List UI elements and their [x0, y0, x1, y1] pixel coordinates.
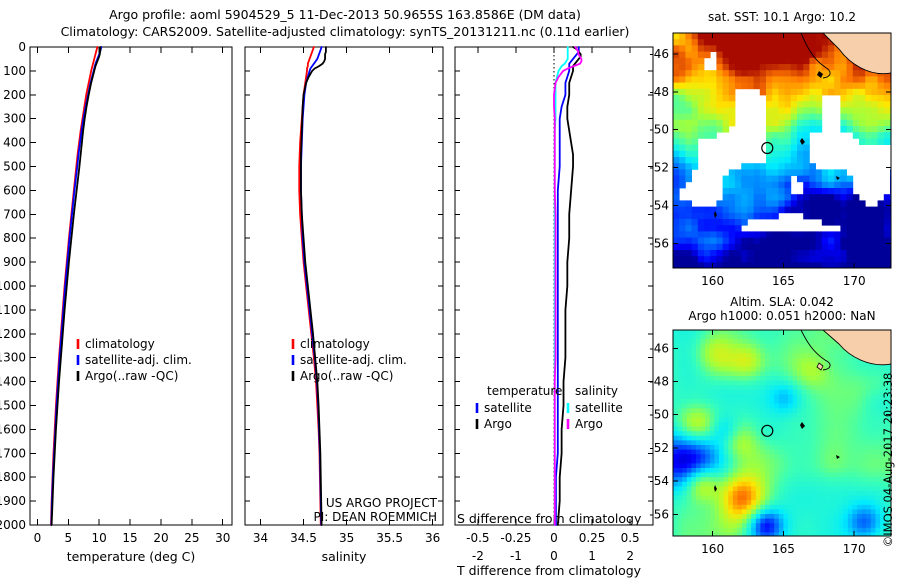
sla-cell: [719, 427, 724, 432]
sla-cell: [719, 408, 724, 413]
sla-cell: [705, 440, 710, 445]
sla-cell: [871, 514, 876, 519]
sla-cell: [719, 436, 724, 441]
sla-cell: [802, 482, 807, 487]
sla-cell: [843, 505, 848, 510]
sst-cell: [816, 101, 823, 108]
sla-cell: [714, 532, 719, 537]
sst-cell: [685, 145, 692, 152]
sla-cell: [848, 459, 853, 464]
sst-cell: [840, 126, 847, 133]
sst-cell: [871, 238, 878, 245]
sst-cell: [834, 52, 841, 59]
sla-cell: [779, 358, 784, 363]
sla-cell: [756, 431, 761, 436]
sla-cell: [765, 519, 770, 524]
sla-cell: [783, 486, 788, 491]
sst-cell: [847, 219, 854, 226]
sst-cell: [778, 238, 785, 245]
sla-cell: [737, 358, 742, 363]
sla-cell: [783, 404, 788, 409]
sla-cell: [751, 519, 756, 524]
sla-cell: [774, 445, 779, 450]
sst-cell: [679, 213, 686, 220]
sst-cell: [735, 33, 742, 40]
sla-cell: [871, 532, 876, 537]
sst-cell: [741, 76, 748, 83]
sst-cell: [679, 200, 686, 207]
sla-cell: [719, 422, 724, 427]
sla-cell: [811, 381, 816, 386]
sla-cell: [829, 505, 834, 510]
sla-cell: [691, 417, 696, 422]
sla-cell: [843, 367, 848, 372]
sla-cell: [820, 344, 825, 349]
sst-cell: [716, 64, 723, 71]
sla-cell: [710, 468, 715, 473]
sla-cell: [705, 358, 710, 363]
salinity-curve-2: [301, 47, 326, 525]
sla-cell: [797, 473, 802, 478]
sst-cell: [729, 256, 736, 263]
sla-cell: [747, 500, 752, 505]
sla-cell: [714, 463, 719, 468]
sst-cell: [797, 58, 804, 65]
sla-cell: [687, 509, 692, 514]
sla-cell: [678, 491, 683, 496]
sst-cell: [816, 120, 823, 127]
sla-cell: [728, 367, 733, 372]
sst-cell: [723, 207, 730, 214]
sla-cell: [816, 335, 821, 340]
sla-cell: [793, 519, 798, 524]
sst-cell: [840, 101, 847, 108]
sla-cell: [770, 408, 775, 413]
sla-cell: [834, 486, 839, 491]
sla-cell: [678, 500, 683, 505]
sla-cell: [737, 399, 742, 404]
sst-cell: [816, 169, 823, 176]
sla-cell: [857, 477, 862, 482]
sst-cell: [679, 238, 686, 245]
sst-cell: [785, 207, 792, 214]
sla-cell: [742, 358, 747, 363]
sst-cell: [685, 114, 692, 121]
sla-cell: [673, 500, 678, 505]
sst-cell: [803, 33, 810, 40]
sla-cell: [811, 348, 816, 353]
sst-cell: [673, 114, 680, 121]
sla-cell: [696, 436, 701, 441]
sst-cell: [685, 256, 692, 263]
sst-cell: [871, 225, 878, 232]
sla-cell: [862, 505, 867, 510]
sla-cell: [862, 404, 867, 409]
sdiff-tick-label: -0.25: [500, 531, 531, 545]
sla-cell: [705, 500, 710, 505]
sst-cell: [847, 95, 854, 102]
sla-cell: [862, 463, 867, 468]
sst-cell: [853, 70, 860, 77]
sla-cell: [691, 509, 696, 514]
sla-cell: [737, 519, 742, 524]
sla-cell: [852, 463, 857, 468]
sla-cell: [783, 413, 788, 418]
sst-cell: [685, 250, 692, 257]
sla-cell: [733, 468, 738, 473]
sla-cell: [710, 509, 715, 514]
sla-cell: [747, 505, 752, 510]
sla-cell: [774, 514, 779, 519]
sst-cell: [822, 219, 829, 226]
sst-cell: [878, 120, 885, 127]
sla-cell: [756, 353, 761, 358]
sla-cell: [719, 445, 724, 450]
sla-cell: [705, 376, 710, 381]
sla-cell: [774, 394, 779, 399]
sla-cell: [733, 463, 738, 468]
sla-cell: [687, 468, 692, 473]
sla-cell: [811, 413, 816, 418]
sla-cell: [811, 431, 816, 436]
sst-cell: [785, 52, 792, 59]
sla-cell: [742, 459, 747, 464]
sla-cell: [852, 509, 857, 514]
sst-map-title: sat. SST: 10.1 Argo: 10.2: [708, 10, 856, 24]
sst-cell: [797, 250, 804, 257]
sla-cell: [705, 473, 710, 478]
sla-cell: [737, 353, 742, 358]
sla-cell: [793, 330, 798, 335]
sla-cell: [678, 422, 683, 427]
sla-cell: [829, 413, 834, 418]
sla-cell: [733, 436, 738, 441]
sla-cell: [848, 358, 853, 363]
sst-cell: [847, 176, 854, 183]
sla-cell: [770, 505, 775, 510]
sla-cell: [714, 523, 719, 528]
sla-cell: [687, 358, 692, 363]
copyright-text: ©IMOS 04-Aug-2017 20:23:38: [881, 373, 895, 548]
sst-map-lat-tick: -54: [649, 198, 669, 212]
sla-cell: [673, 528, 678, 533]
sst-cell: [692, 231, 699, 238]
sst-cell: [704, 52, 711, 59]
sla-cell: [797, 390, 802, 395]
sla-cell: [806, 367, 811, 372]
sla-cell: [765, 463, 770, 468]
sla-cell: [696, 353, 701, 358]
sla-cell: [843, 358, 848, 363]
sla-cell: [852, 440, 857, 445]
sla-cell: [875, 496, 880, 501]
sla-cell: [875, 417, 880, 422]
sla-cell: [756, 413, 761, 418]
sla-cell: [728, 477, 733, 482]
sla-cell: [673, 523, 678, 528]
sla-cell: [788, 496, 793, 501]
sst-cell: [778, 145, 785, 152]
sst-cell: [716, 89, 723, 96]
sst-cell: [840, 114, 847, 121]
sla-cell: [751, 390, 756, 395]
sla-cell: [871, 399, 876, 404]
sla-cell: [760, 404, 765, 409]
sla-cell: [724, 362, 729, 367]
sst-cell: [809, 188, 816, 195]
sla-cell: [687, 463, 692, 468]
sst-cell: [685, 120, 692, 127]
sla-cell: [701, 399, 706, 404]
sla-cell: [760, 486, 765, 491]
sst-cell: [822, 70, 829, 77]
sst-cell: [679, 169, 686, 176]
sla-cell: [843, 381, 848, 386]
depth-tick-label: 2000: [0, 518, 26, 532]
sst-cell: [685, 225, 692, 232]
sla-cell: [843, 408, 848, 413]
sst-cell: [785, 107, 792, 114]
sla-cell: [871, 519, 876, 524]
sst-cell: [685, 89, 692, 96]
sla-cell: [834, 482, 839, 487]
sst-cell: [828, 182, 835, 189]
sla-cell: [829, 371, 834, 376]
sst-cell: [871, 213, 878, 220]
sla-cell: [774, 468, 779, 473]
sst-cell: [822, 231, 829, 238]
sst-cell: [847, 83, 854, 90]
sla-cell: [797, 482, 802, 487]
sla-cell: [852, 528, 857, 533]
sst-cell: [791, 207, 798, 214]
sla-cell: [705, 477, 710, 482]
sla-cell: [848, 417, 853, 422]
sla-cell: [673, 496, 678, 501]
sst-cell: [766, 132, 773, 139]
sla-cell: [724, 523, 729, 528]
sst-cell: [716, 101, 723, 108]
sst-cell: [822, 188, 829, 195]
sla-cell: [797, 450, 802, 455]
sla-cell: [710, 335, 715, 340]
sla-cell: [724, 482, 729, 487]
sla-cell: [866, 523, 871, 528]
sla-cell: [829, 431, 834, 436]
sla-cell: [852, 445, 857, 450]
sla-cell: [728, 436, 733, 441]
sla-cell: [829, 408, 834, 413]
sla-cell: [793, 436, 798, 441]
sst-cell: [741, 45, 748, 52]
sst-cell: [778, 120, 785, 127]
sla-cell: [783, 450, 788, 455]
sst-cell: [791, 39, 798, 46]
sla-cell: [719, 459, 724, 464]
sst-map-lat-tick: -52: [649, 161, 669, 175]
sst-cell: [822, 250, 829, 257]
sla-cell: [875, 371, 880, 376]
sla-cell: [871, 463, 876, 468]
sla-cell: [765, 468, 770, 473]
temperature-tick-label: 20: [153, 531, 168, 545]
sst-cell: [816, 39, 823, 46]
sla-cell: [696, 371, 701, 376]
salinity-curve-1: [301, 47, 322, 525]
sst-cell: [878, 107, 885, 114]
depth-tick-label: 400: [3, 136, 26, 150]
sla-cell: [724, 353, 729, 358]
sla-cell: [737, 445, 742, 450]
sst-cell: [729, 238, 736, 245]
sla-cell: [811, 459, 816, 464]
sla-cell: [875, 459, 880, 464]
sst-cell: [785, 231, 792, 238]
sla-cell: [834, 519, 839, 524]
sla-cell: [829, 344, 834, 349]
sla-cell: [820, 390, 825, 395]
sla-cell: [696, 381, 701, 386]
sla-map-title-line1: Altim. SLA: 0.042: [730, 295, 834, 309]
sla-cell: [783, 335, 788, 340]
sla-cell: [829, 348, 834, 353]
sst-cell: [692, 219, 699, 226]
sst-cell: [741, 213, 748, 220]
temperature-axis-label: temperature (deg C): [67, 549, 196, 564]
sla-cell: [682, 367, 687, 372]
sla-cell: [747, 496, 752, 501]
sla-cell: [875, 473, 880, 478]
sst-cell: [766, 207, 773, 214]
sst-cell: [884, 114, 891, 121]
sla-cell: [737, 509, 742, 514]
sla-cell: [834, 422, 839, 427]
sla-cell: [857, 431, 862, 436]
sla-cell: [774, 381, 779, 386]
sst-cell: [816, 64, 823, 71]
sla-cell: [875, 376, 880, 381]
sla-cell: [783, 358, 788, 363]
sst-cell: [741, 176, 748, 183]
sla-cell: [705, 445, 710, 450]
sla-cell: [705, 367, 710, 372]
sla-cell: [834, 450, 839, 455]
sla-cell: [719, 486, 724, 491]
sla-cell: [806, 505, 811, 510]
sst-cell: [741, 169, 748, 176]
sla-cell: [751, 486, 756, 491]
sst-cell: [692, 207, 699, 214]
sla-cell: [802, 459, 807, 464]
sla-cell: [747, 532, 752, 537]
sla-cell: [829, 528, 834, 533]
sst-cell: [741, 39, 748, 46]
sla-cell: [705, 353, 710, 358]
sla-cell: [788, 353, 793, 358]
sla-cell: [737, 505, 742, 510]
sla-cell: [737, 450, 742, 455]
sla-cell: [848, 514, 853, 519]
sla-cell: [848, 468, 853, 473]
sst-cell: [747, 39, 754, 46]
sst-cell: [878, 219, 885, 226]
sst-cell: [673, 39, 680, 46]
sla-cell: [788, 367, 793, 372]
sla-cell: [678, 362, 683, 367]
sst-cell: [710, 70, 717, 77]
sst-cell: [847, 194, 854, 201]
sla-cell: [687, 427, 692, 432]
sst-cell: [871, 207, 878, 214]
sla-cell: [820, 436, 825, 441]
sla-cell: [705, 408, 710, 413]
sla-cell: [747, 385, 752, 390]
sst-cell: [847, 107, 854, 114]
sla-cell: [760, 362, 765, 367]
sla-cell: [862, 473, 867, 478]
sla-cell: [765, 514, 770, 519]
sla-cell: [848, 436, 853, 441]
sla-cell: [862, 523, 867, 528]
sla-cell: [742, 463, 747, 468]
sst-cell: [785, 188, 792, 195]
sla-cell: [756, 381, 761, 386]
sst-cell: [679, 126, 686, 133]
sla-cell: [811, 390, 816, 395]
sla-cell: [724, 477, 729, 482]
sla-cell: [834, 376, 839, 381]
sla-cell: [834, 468, 839, 473]
sst-cell: [859, 207, 866, 214]
sla-cell: [719, 496, 724, 501]
sla-cell: [705, 496, 710, 501]
sla-cell: [774, 358, 779, 363]
sst-cell: [834, 182, 841, 189]
sla-cell: [682, 371, 687, 376]
sla-cell: [788, 381, 793, 386]
sst-cell: [729, 207, 736, 214]
sst-cell: [834, 200, 841, 207]
sla-cell: [816, 528, 821, 533]
legend-label: Argo: [484, 417, 512, 431]
sla-cell: [820, 514, 825, 519]
sla-cell: [682, 491, 687, 496]
sla-cell: [829, 491, 834, 496]
sla-cell: [843, 496, 848, 501]
sla-cell: [691, 532, 696, 537]
sla-cell: [747, 344, 752, 349]
sst-cell: [760, 169, 767, 176]
sla-cell: [733, 450, 738, 455]
sla-cell: [779, 404, 784, 409]
sla-cell: [871, 454, 876, 459]
sla-cell: [714, 436, 719, 441]
sla-cell: [848, 523, 853, 528]
sst-cell: [673, 107, 680, 114]
sst-cell: [704, 238, 711, 245]
sst-cell: [704, 126, 711, 133]
sla-cell: [829, 339, 834, 344]
sst-cell: [859, 101, 866, 108]
sdiff-axis-label: S difference from climatology: [457, 511, 642, 526]
sla-cell: [793, 422, 798, 427]
sst-cell: [772, 207, 779, 214]
sst-cell: [754, 188, 761, 195]
sla-cell: [816, 385, 821, 390]
sst-cell: [766, 33, 773, 40]
sla-cell: [839, 408, 844, 413]
sla-cell: [793, 459, 798, 464]
